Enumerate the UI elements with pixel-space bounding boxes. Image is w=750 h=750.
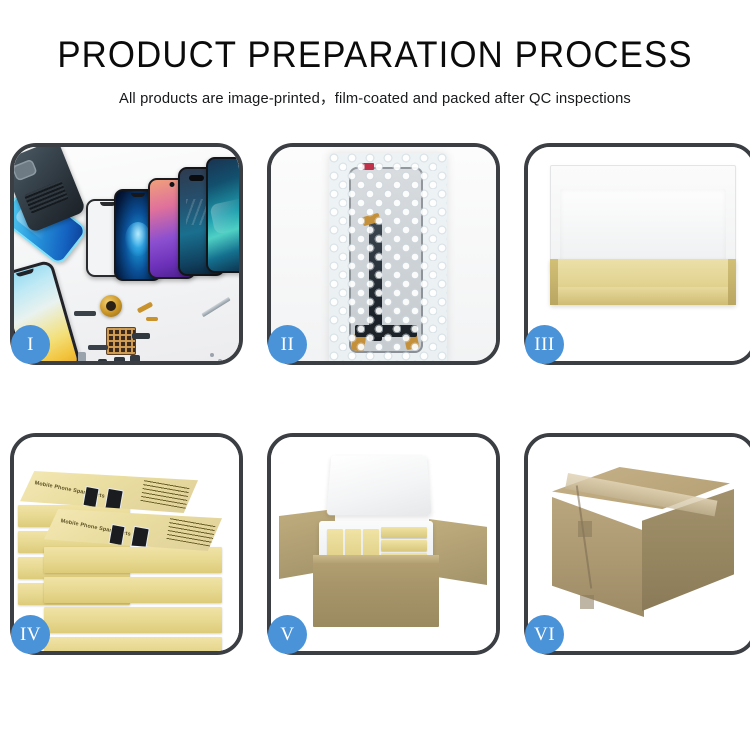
flex-cable-gold-2 <box>146 317 158 321</box>
box-screen-thumb-top-1 <box>82 486 99 508</box>
box-spec-lines-top <box>140 479 189 509</box>
process-step-panel-3: III <box>524 143 750 365</box>
connector-part-1 <box>132 333 150 339</box>
panel-6-image <box>528 437 750 651</box>
product-preparation-page: PRODUCT PREPARATION PROCESS All products… <box>0 0 750 750</box>
page-title: PRODUCT PREPARATION PROCESS <box>23 36 728 73</box>
panel-3-image <box>528 147 750 361</box>
connector-part-2 <box>88 345 108 350</box>
carton-front-rim <box>313 555 439 563</box>
sim-tray-part <box>78 352 86 361</box>
carton-handle-tab-upper <box>578 521 592 537</box>
panel-4-badge: IV <box>11 615 50 654</box>
process-step-panel-1: I <box>10 143 243 365</box>
panel-2-badge: II <box>268 325 307 364</box>
small-part-strip <box>74 311 96 316</box>
vibrator-part <box>130 355 140 361</box>
process-step-panel-2: II <box>267 143 500 365</box>
process-steps-grid: I II <box>10 143 743 677</box>
camera-lens-ring <box>100 295 122 317</box>
stacked-box-r4 <box>44 637 222 651</box>
panel-3-badge: III <box>525 325 564 364</box>
speaker-part <box>114 357 125 361</box>
retail-box-5 <box>381 540 427 551</box>
bubble-texture <box>329 153 447 361</box>
box-spec-lines-mid <box>166 517 215 547</box>
process-step-panel-6: VI <box>524 433 750 655</box>
panel-5-badge: V <box>268 615 307 654</box>
foam-box-lid <box>327 456 432 516</box>
carton-handle-tab-lower <box>580 595 594 609</box>
kraft-tray-right-edge <box>728 259 736 305</box>
white-foam-sheet <box>560 189 726 267</box>
process-step-panel-4: Mobile Phone Spare Parts Mobile Phone Sp… <box>10 433 243 655</box>
box-screen-thumb-mid-1 <box>108 524 125 546</box>
stacked-box-r2 <box>44 577 222 603</box>
screw-1 <box>210 353 214 357</box>
panel-5-image <box>271 437 496 651</box>
button-flex-part <box>98 359 107 361</box>
page-header: PRODUCT PREPARATION PROCESS All products… <box>0 0 750 108</box>
phone-teal-gradient <box>206 157 239 273</box>
bubble-wrap-bag <box>329 153 447 361</box>
panel-1-badge: I <box>11 325 50 364</box>
panel-6-badge: VI <box>525 615 564 654</box>
panel-4-image: Mobile Phone Spare Parts Mobile Phone Sp… <box>14 437 239 651</box>
screw-2 <box>218 359 222 361</box>
chip-contact-grid <box>106 327 136 355</box>
page-subtitle: All products are image-printed，film-coat… <box>11 86 739 108</box>
panel-1-image <box>14 147 239 361</box>
panel-2-image <box>271 147 496 361</box>
process-step-panel-5: V <box>267 433 500 655</box>
kraft-tray-left-edge <box>550 259 558 305</box>
stacked-box-r1 <box>44 547 222 573</box>
carton-front-body <box>313 555 439 627</box>
stacked-box-r3 <box>44 607 222 633</box>
kraft-tray-front-panel <box>553 287 733 305</box>
retail-box-4 <box>381 527 427 538</box>
